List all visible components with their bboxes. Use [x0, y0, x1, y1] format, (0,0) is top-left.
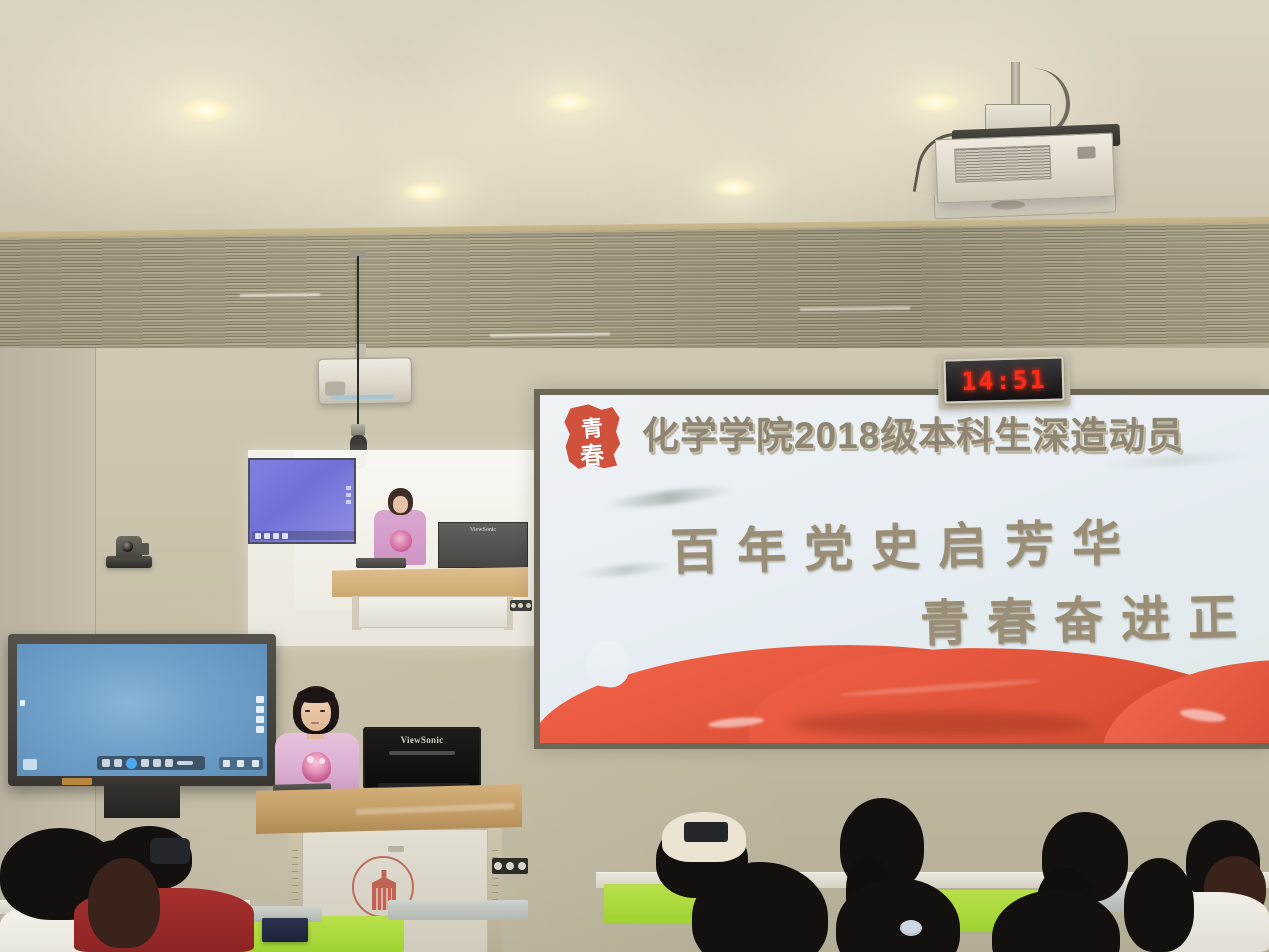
- eraser-icon[interactable]: [141, 759, 149, 767]
- more-icon[interactable]: [177, 761, 193, 765]
- presenter-eye: [305, 710, 310, 712]
- board-stand: [104, 784, 180, 818]
- lecture-hall-scene: ViewSonic 青 春 化学学院2018级本科生深造动员 百年党史启芳华 青…: [0, 0, 1269, 952]
- cap-band: [684, 822, 728, 842]
- ceiling-downlight: [545, 92, 593, 113]
- highlight-icon[interactable]: [126, 758, 137, 769]
- board-left-indicator: [20, 700, 25, 706]
- board-menu-icon[interactable]: [23, 759, 37, 770]
- graphic-dot: [319, 758, 325, 764]
- ceiling-downlight: [912, 92, 960, 113]
- monitor-brand-label: ViewSonic: [439, 527, 527, 533]
- camera-lens-icon: [122, 541, 133, 552]
- audience-ponytail: [88, 858, 160, 948]
- board-bottom-toolbar[interactable]: [97, 756, 205, 770]
- projected-laptop: [356, 558, 406, 568]
- clock-time-display: 14:51: [961, 364, 1047, 395]
- slide-title: 化学学院2018级本科生深造动员: [642, 417, 1269, 456]
- hair-scrunchie: [900, 920, 922, 936]
- display-toolbar: [252, 531, 356, 540]
- microphone-cable: [357, 256, 359, 432]
- projected-camera-feed: ViewSonic: [248, 450, 540, 646]
- podium-door-latch[interactable]: [388, 846, 404, 852]
- youth-seal-stamp: 青 春: [562, 403, 622, 471]
- ink-brush-stroke: [604, 483, 735, 512]
- podium-leg: [488, 828, 502, 952]
- projection-screen: 青 春 化学学院2018级本科生深造动员 百年党史启芳华 青春奋进正: [540, 395, 1269, 743]
- projector-vent-grille: [954, 145, 1051, 183]
- desk-divider: [388, 900, 528, 920]
- projected-podium: [332, 567, 528, 597]
- presenter-mouth: [311, 722, 319, 724]
- red-silk-ribbon-graphic: [540, 613, 1269, 743]
- camera-side-module: [140, 543, 149, 555]
- board-brand-logo: [62, 778, 92, 785]
- board-corner-tools[interactable]: [219, 757, 263, 770]
- graphic-dot: [307, 756, 314, 763]
- interactive-whiteboard-screen[interactable]: [17, 644, 267, 776]
- led-wall-clock: 14:51: [943, 356, 1064, 403]
- display-side-icons: [346, 486, 351, 507]
- monitor-reflection: [389, 751, 455, 755]
- ribbon-shadow: [790, 711, 1090, 737]
- seal-char-bottom: 春: [561, 434, 623, 473]
- share-icon[interactable]: [237, 760, 244, 767]
- back-icon[interactable]: [223, 760, 230, 767]
- shapes-icon[interactable]: [153, 759, 161, 767]
- pen-icon[interactable]: [114, 759, 122, 767]
- slatted-ceiling-band: [0, 222, 1269, 360]
- notebook: [262, 918, 308, 942]
- projected-presenter-face: [393, 496, 408, 513]
- projected-podium-base: [358, 596, 508, 628]
- slide-calligraphy-line-1: 百年党史启芳华: [669, 503, 1139, 584]
- ceiling-projector: [935, 133, 1115, 204]
- ink-brush-stroke: [578, 560, 675, 580]
- presenter-eye: [320, 710, 325, 712]
- capture-icon[interactable]: [252, 760, 259, 767]
- projector-lens: [1077, 146, 1095, 159]
- projected-display: [248, 458, 356, 544]
- podium-monitor: ViewSonic: [363, 727, 481, 789]
- cloud-icon[interactable]: [165, 759, 173, 767]
- projected-wall-socket: [510, 600, 532, 611]
- projector-lens: [325, 381, 345, 395]
- ceiling-downlight: [402, 182, 448, 202]
- wall-socket[interactable]: [492, 858, 528, 874]
- presenter-shirt-graphic: [302, 752, 331, 782]
- audience-cap: [150, 838, 190, 864]
- presenter-bangs: [297, 688, 335, 703]
- audience-head: [1124, 858, 1194, 952]
- projected-monitor: ViewSonic: [438, 522, 528, 568]
- podium-leg-vents: [292, 850, 298, 904]
- ceiling-downlight: [178, 98, 234, 122]
- projector-lens: [991, 200, 1025, 210]
- projector-indicator-strip: [331, 395, 393, 400]
- board-side-toolbar[interactable]: [256, 696, 264, 736]
- short-throw-projector: [318, 357, 413, 405]
- camera-icon[interactable]: [102, 759, 110, 767]
- ceiling-downlight: [712, 178, 756, 197]
- projected-shirt-graphic: [390, 530, 412, 552]
- monitor-brand-label: ViewSonic: [365, 735, 479, 745]
